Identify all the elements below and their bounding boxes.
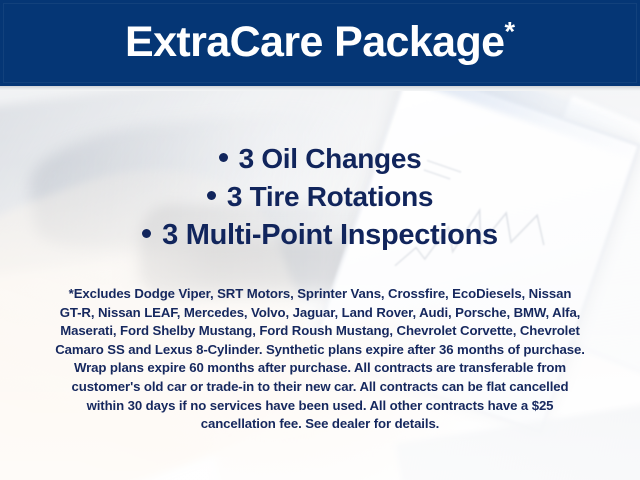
page-title: ExtraCare Package* (125, 21, 515, 64)
disclaimer-line: Wrap plans expire 60 months after purcha… (22, 359, 618, 378)
disclaimer-line: Camaro SS and Lexus 8-Cylinder. Syntheti… (22, 341, 618, 360)
disclaimer-line: cancellation fee. See dealer for details… (22, 415, 618, 434)
extracare-package-ad: ExtraCare Package* 3 Oil Changes 3 Tire … (0, 0, 640, 480)
benefit-label: 3 Tire Rotations (227, 181, 433, 212)
benefit-label: 3 Oil Changes (239, 143, 422, 174)
header-banner: ExtraCare Package* (0, 0, 640, 86)
list-item: 3 Oil Changes (0, 140, 640, 178)
bullet-dot-icon (142, 229, 151, 238)
page-title-text: ExtraCare Package (125, 18, 504, 66)
benefits-list: 3 Oil Changes 3 Tire Rotations 3 Multi-P… (0, 140, 640, 254)
disclaimer-text: *Excludes Dodge Viper, SRT Motors, Sprin… (22, 285, 618, 434)
banner-underline (0, 86, 640, 91)
page-title-asterisk: * (504, 16, 515, 46)
benefit-label: 3 Multi-Point Inspections (162, 219, 498, 251)
disclaimer-line: GT-R, Nissan LEAF, Mercedes, Volvo, Jagu… (22, 304, 618, 323)
disclaimer-line: Maserati, Ford Shelby Mustang, Ford Rous… (22, 322, 618, 341)
list-item: 3 Multi-Point Inspections (0, 216, 640, 254)
disclaimer-line: customer's old car or trade-in to their … (22, 378, 618, 397)
list-item: 3 Tire Rotations (0, 178, 640, 216)
disclaimer-line: *Excludes Dodge Viper, SRT Motors, Sprin… (22, 285, 618, 304)
disclaimer-line: within 30 days if no services have been … (22, 397, 618, 416)
bullet-dot-icon (207, 191, 216, 200)
bullet-dot-icon (219, 153, 228, 162)
